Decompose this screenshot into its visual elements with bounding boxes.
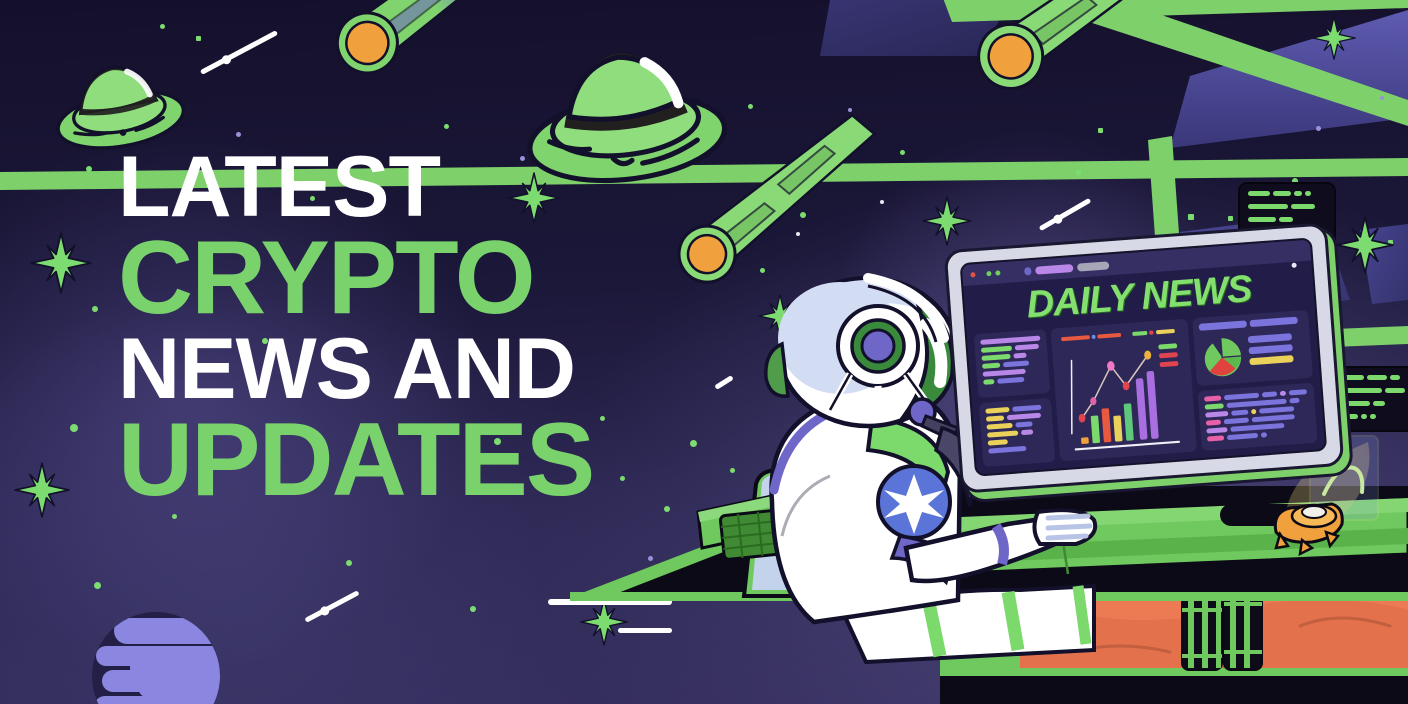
headline-line-2: CRYPTO bbox=[118, 229, 593, 329]
text-line bbox=[987, 430, 1018, 437]
monitor-screen[interactable]: DAILY NEWS bbox=[960, 237, 1328, 476]
star-dot bbox=[1380, 96, 1384, 100]
headline-line-3: NEWS AND bbox=[118, 328, 593, 411]
sparkle-star-icon bbox=[14, 462, 70, 518]
browser-tab[interactable] bbox=[1035, 263, 1073, 274]
star-dot bbox=[160, 24, 165, 29]
text-line bbox=[1205, 403, 1224, 409]
left-bottom-panel bbox=[979, 398, 1055, 467]
text-line bbox=[1206, 420, 1221, 426]
sparkle-star-icon bbox=[30, 232, 92, 294]
window-minimize-dot-icon[interactable] bbox=[986, 271, 991, 276]
star-dot bbox=[900, 150, 905, 155]
sparkle-star-icon bbox=[1312, 16, 1356, 60]
star-dot bbox=[70, 424, 78, 432]
star-dot bbox=[1076, 170, 1081, 175]
text-line bbox=[981, 354, 1010, 361]
combo-chart bbox=[1057, 325, 1191, 455]
text-line bbox=[1261, 432, 1268, 437]
star-dot bbox=[444, 124, 449, 129]
text-line bbox=[1007, 413, 1041, 420]
text-line bbox=[1289, 389, 1308, 395]
star-dot bbox=[94, 582, 101, 589]
star-dot bbox=[1316, 126, 1321, 131]
text-line bbox=[1207, 435, 1224, 441]
text-line bbox=[1016, 421, 1033, 427]
dashboard-right-column bbox=[1192, 310, 1317, 451]
text-line bbox=[1279, 391, 1286, 396]
text-line bbox=[1224, 393, 1260, 401]
star-dot bbox=[1188, 214, 1194, 220]
star-dot bbox=[748, 104, 753, 109]
text-line bbox=[1249, 344, 1293, 354]
text-line bbox=[985, 407, 1009, 414]
lower-right-terminal bbox=[1330, 366, 1408, 432]
text-line bbox=[988, 446, 1027, 454]
sparkle-star-icon bbox=[922, 196, 972, 246]
text-line bbox=[986, 423, 1013, 430]
text-line bbox=[982, 363, 1000, 369]
star-dot bbox=[848, 108, 852, 112]
text-line bbox=[1207, 427, 1228, 434]
text-line bbox=[988, 439, 1009, 445]
tab-favicon-icon bbox=[1024, 267, 1032, 275]
star-dot bbox=[470, 606, 476, 612]
star-dot bbox=[236, 132, 241, 137]
text-line bbox=[1249, 317, 1297, 327]
text-line bbox=[997, 377, 1025, 384]
text-line bbox=[1231, 410, 1248, 416]
left-top-panel bbox=[974, 329, 1050, 398]
text-line bbox=[1013, 353, 1027, 359]
text-line bbox=[1015, 344, 1039, 351]
text-line bbox=[1204, 395, 1221, 401]
text-line bbox=[1251, 414, 1295, 422]
monitor: DAILY NEWS bbox=[944, 222, 1345, 493]
star-dot bbox=[880, 200, 884, 204]
text-line bbox=[1227, 433, 1258, 440]
text-line bbox=[986, 415, 1004, 421]
text-line bbox=[1199, 320, 1247, 330]
text-line bbox=[1205, 411, 1228, 418]
sparkle-star-icon bbox=[508, 172, 560, 224]
text-line bbox=[1248, 333, 1292, 343]
pie-panel bbox=[1192, 310, 1312, 386]
text-line bbox=[1249, 355, 1293, 365]
text-line bbox=[983, 369, 1026, 377]
text-line bbox=[1289, 398, 1300, 404]
dashboard-left-column bbox=[974, 329, 1056, 467]
text-line bbox=[1259, 406, 1295, 414]
pie-chart bbox=[1200, 335, 1245, 380]
star-dot bbox=[196, 36, 201, 41]
star-dot bbox=[1098, 128, 1103, 133]
star-dot bbox=[92, 306, 98, 312]
window-close-dot-icon[interactable] bbox=[970, 272, 975, 277]
text-line bbox=[1021, 429, 1033, 435]
headline-line-4: UPDATES bbox=[118, 411, 593, 511]
crypto-news-banner: LATEST CRYPTO NEWS AND UPDATES bbox=[0, 0, 1408, 704]
star-dot bbox=[86, 166, 92, 172]
star-dot bbox=[346, 560, 352, 566]
text-line bbox=[983, 379, 994, 385]
text-line bbox=[1251, 409, 1257, 414]
pie-chart-row bbox=[1200, 330, 1307, 379]
sparkle-star-icon bbox=[1336, 216, 1394, 274]
text-line bbox=[1262, 391, 1277, 397]
star-dot bbox=[1228, 216, 1233, 221]
text-line bbox=[1012, 405, 1041, 412]
dashboard-chart-panel bbox=[1051, 319, 1198, 462]
text-line bbox=[1223, 418, 1248, 425]
monitor-body: DAILY NEWS bbox=[944, 222, 1345, 493]
window-maximize-dot-icon[interactable] bbox=[995, 270, 1000, 275]
address-bar[interactable] bbox=[1077, 261, 1110, 271]
text-line bbox=[1003, 360, 1030, 367]
text-line bbox=[981, 346, 1012, 353]
dashboard bbox=[974, 310, 1318, 467]
list-panel bbox=[1198, 383, 1318, 451]
